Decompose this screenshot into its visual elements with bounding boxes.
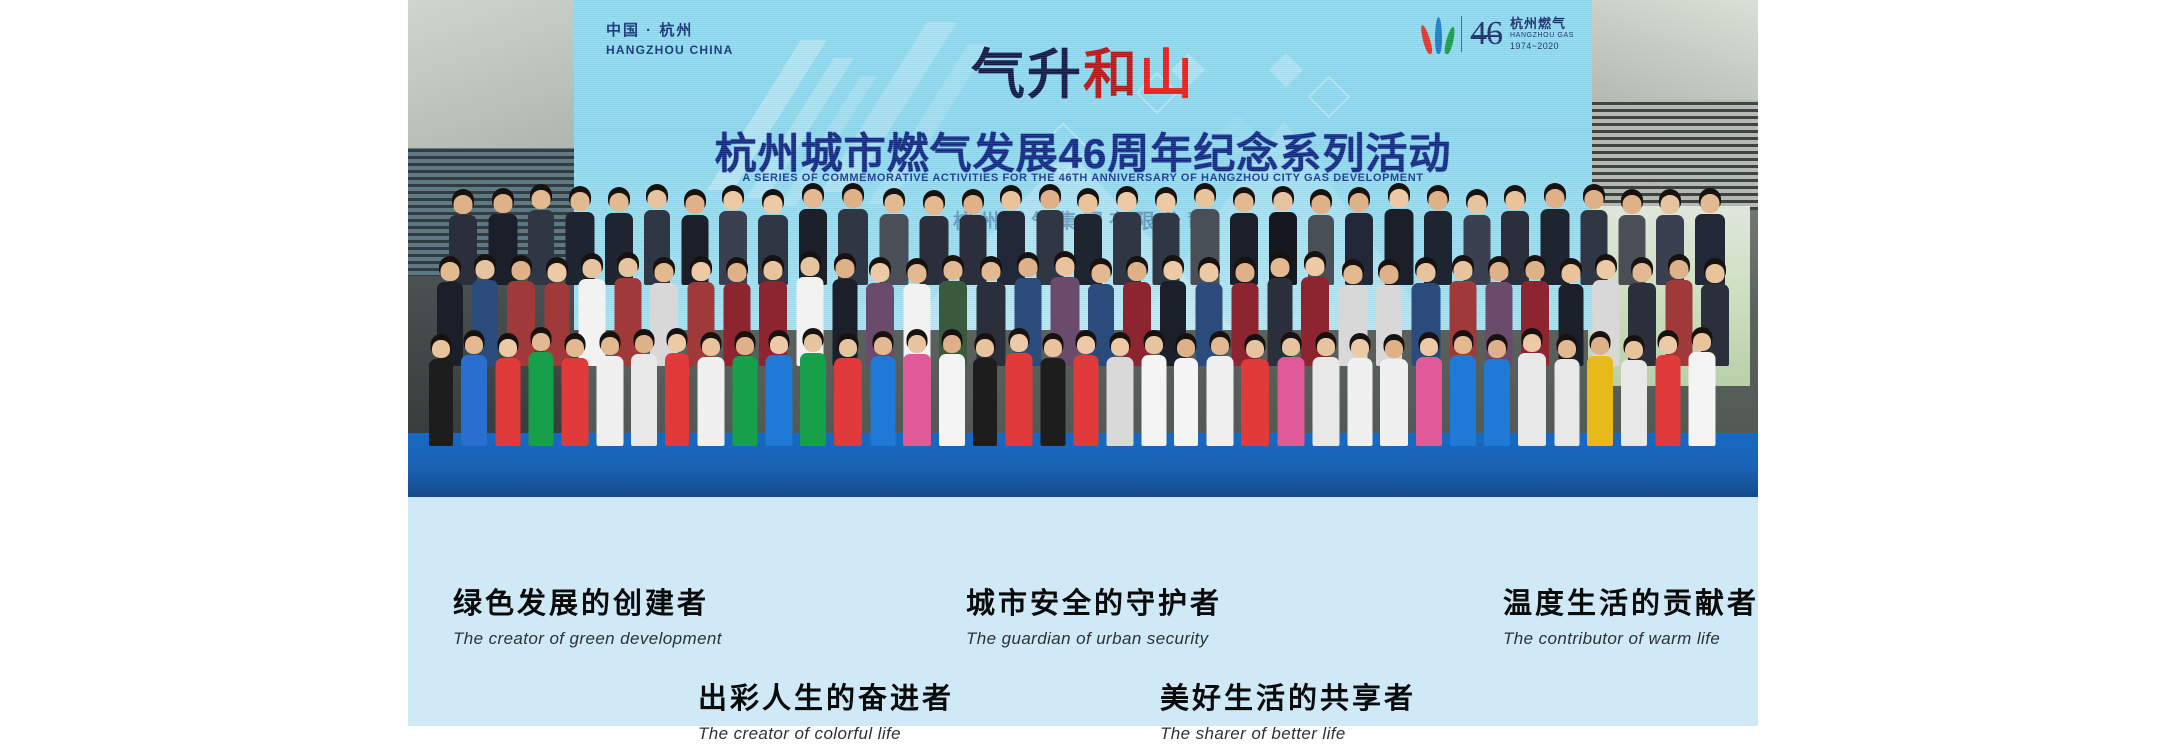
caption-en: The sharer of better life xyxy=(1160,724,1416,744)
person-head xyxy=(839,339,857,357)
brand-lockup: 46 杭州燃气 HANGZHOU GAS 1974~2020 xyxy=(1427,14,1574,54)
person-head xyxy=(432,340,450,358)
person-figure xyxy=(902,332,932,446)
person-head xyxy=(1111,338,1129,356)
person-head xyxy=(1389,189,1408,208)
person-torso xyxy=(561,358,588,446)
person-head xyxy=(1343,265,1362,284)
person-head xyxy=(1661,195,1680,214)
person-head xyxy=(512,261,531,280)
person-torso xyxy=(697,357,724,446)
person-figure xyxy=(494,336,521,446)
person-figure xyxy=(1346,336,1373,446)
person-head xyxy=(1044,339,1062,357)
person-torso xyxy=(939,354,965,446)
person-head xyxy=(1018,258,1037,277)
person-head xyxy=(1701,194,1720,213)
calligraphy-char-1: 气 xyxy=(971,45,1027,105)
person-head xyxy=(1118,192,1137,211)
calligraphy-char-3: 和 xyxy=(1083,45,1139,105)
person-torso xyxy=(596,356,623,446)
person-head xyxy=(493,194,512,213)
person-head xyxy=(800,257,819,276)
person-figure xyxy=(1687,330,1716,446)
caption-cn: 绿色发展的创建者 xyxy=(453,587,722,622)
person-head xyxy=(1429,191,1448,210)
caption-cn: 美好生活的共享者 xyxy=(1160,682,1416,717)
calligraphy-char-4: 山 xyxy=(1139,45,1195,105)
person-head xyxy=(884,194,903,213)
caption-item-5: 美好生活的共享者 The sharer of better life xyxy=(1160,682,1416,744)
person-head xyxy=(570,192,589,211)
person-head xyxy=(702,338,720,356)
person-figure xyxy=(1379,337,1409,446)
person-torso xyxy=(903,354,931,446)
person-head xyxy=(1545,189,1564,208)
person-head xyxy=(1235,263,1254,282)
brand-divider xyxy=(1461,16,1462,52)
person-head xyxy=(1523,334,1541,352)
person-torso xyxy=(1040,358,1065,446)
person-head xyxy=(1128,262,1147,281)
person-head xyxy=(724,191,743,210)
calligraphy-logo: 气升和山 xyxy=(971,48,1195,102)
person-head xyxy=(1584,190,1603,209)
person-figure xyxy=(527,330,554,446)
person-figure xyxy=(1205,334,1234,446)
person-head xyxy=(764,195,783,214)
person-torso xyxy=(1174,358,1198,446)
person-figure xyxy=(764,333,793,446)
person-head xyxy=(1488,340,1506,358)
person-head xyxy=(1420,338,1438,356)
person-figure xyxy=(1311,335,1340,446)
person-head xyxy=(1270,258,1289,277)
caption-cn: 出彩人生的奋进者 xyxy=(698,682,954,717)
person-head xyxy=(1467,195,1486,214)
person-head xyxy=(1489,262,1508,281)
person-torso xyxy=(429,359,453,446)
person-head xyxy=(655,263,674,282)
person-head xyxy=(804,334,822,352)
person-head xyxy=(844,189,863,208)
person-head xyxy=(1669,260,1688,279)
person-head xyxy=(1591,337,1609,355)
person-torso xyxy=(1141,355,1166,446)
person-torso xyxy=(1587,356,1613,446)
poster-content: 中国 · 杭州 HANGZHOU CHINA 46 杭州燃气 HANGZHOU … xyxy=(408,0,1758,726)
person-torso xyxy=(800,353,826,446)
person-figure xyxy=(1072,333,1099,446)
crowd-row-front xyxy=(428,330,1722,446)
person-head xyxy=(1351,339,1369,357)
ceiling-panel xyxy=(408,0,588,150)
person-figure xyxy=(972,336,998,446)
person-head xyxy=(981,262,1000,281)
person-torso xyxy=(1554,359,1579,446)
person-head xyxy=(1706,264,1725,283)
brand-text-block: 杭州燃气 HANGZHOU GAS 1974~2020 xyxy=(1510,17,1574,51)
person-head xyxy=(1282,338,1300,356)
person-head xyxy=(1385,340,1403,358)
person-torso xyxy=(973,358,997,446)
person-figure xyxy=(664,331,690,446)
person-head xyxy=(1622,195,1641,214)
location-en: HANGZHOU CHINA xyxy=(606,43,733,57)
person-figure xyxy=(1483,337,1511,446)
person-head xyxy=(635,335,653,353)
person-torso xyxy=(1450,355,1476,446)
brand-name-cn: 杭州燃气 xyxy=(1510,17,1574,32)
person-head xyxy=(908,335,926,353)
person-figure xyxy=(595,334,624,446)
person-figure xyxy=(1276,335,1305,446)
person-torso xyxy=(665,353,689,446)
person-head xyxy=(1274,192,1293,211)
caption-item-2: 城市安全的守护者 The guardian of urban security xyxy=(966,587,1222,649)
person-figure xyxy=(560,336,589,446)
person-figure xyxy=(1553,337,1580,446)
person-head xyxy=(1416,263,1435,282)
person-figure xyxy=(1240,337,1270,446)
person-head xyxy=(1177,339,1195,357)
caption-item-3: 温度生活的贡献者 The contributor of warm life xyxy=(1503,587,1759,649)
poster-page: 中国 · 杭州 HANGZHOU CHINA 46 杭州燃气 HANGZHOU … xyxy=(0,0,2179,726)
person-head xyxy=(1092,264,1111,283)
person-head xyxy=(532,190,551,209)
person-torso xyxy=(1416,357,1442,446)
caption-cn: 城市安全的守护者 xyxy=(966,587,1222,622)
person-head xyxy=(1010,334,1028,352)
calligraphy-char-2: 升 xyxy=(1027,45,1083,105)
person-head xyxy=(1561,264,1580,283)
person-head xyxy=(1633,263,1652,282)
person-figure xyxy=(1654,333,1681,446)
person-figure xyxy=(1039,336,1066,446)
person-figure xyxy=(1173,336,1199,446)
person-head xyxy=(582,259,601,278)
person-head xyxy=(465,336,483,354)
person-torso xyxy=(870,356,895,446)
person-head xyxy=(441,262,460,281)
person-head xyxy=(736,337,754,355)
person-head xyxy=(1211,337,1229,355)
person-head xyxy=(1306,257,1325,276)
person-torso xyxy=(1206,356,1233,446)
person-head xyxy=(648,190,667,209)
person-torso xyxy=(1688,352,1715,446)
caption-en: The guardian of urban security xyxy=(966,629,1222,649)
person-figure xyxy=(1415,335,1443,446)
person-torso xyxy=(1005,353,1032,446)
person-torso xyxy=(834,358,862,446)
group-photo: 中国 · 杭州 HANGZHOU CHINA 46 杭州燃气 HANGZHOU … xyxy=(408,0,1758,497)
person-head xyxy=(907,264,926,283)
person-figure xyxy=(938,332,966,446)
person-torso xyxy=(1073,355,1098,446)
person-head xyxy=(943,335,961,353)
person-head xyxy=(963,195,982,214)
person-torso xyxy=(732,356,757,446)
person-head xyxy=(1312,195,1331,214)
person-head xyxy=(1659,336,1677,354)
person-figure xyxy=(1004,331,1033,446)
person-head xyxy=(499,339,517,357)
person-figure xyxy=(630,332,658,446)
person-head xyxy=(1317,338,1335,356)
person-head xyxy=(476,260,495,279)
diamond-decor xyxy=(1269,53,1303,87)
anniversary-number: 46 xyxy=(1470,17,1502,51)
person-figure xyxy=(460,333,488,446)
person-torso xyxy=(1347,358,1372,446)
caption-en: The creator of colorful life xyxy=(698,724,954,744)
person-figure xyxy=(799,331,827,446)
person-head xyxy=(1625,341,1643,359)
person-head xyxy=(1350,193,1369,212)
crowd-group xyxy=(408,180,1758,497)
person-head xyxy=(804,189,823,208)
person-head xyxy=(1246,340,1264,358)
caption-item-1: 绿色发展的创建者 The creator of green developmen… xyxy=(453,587,722,649)
person-figure xyxy=(1105,335,1134,446)
person-figure xyxy=(869,334,896,446)
person-figure xyxy=(1140,333,1167,446)
person-figure xyxy=(1517,331,1547,446)
person-torso xyxy=(1518,353,1546,446)
person-torso xyxy=(1106,357,1133,446)
person-torso xyxy=(1312,357,1339,446)
person-head xyxy=(601,337,619,355)
person-head xyxy=(610,193,629,212)
person-head xyxy=(691,262,710,281)
person-torso xyxy=(1380,359,1408,446)
person-torso xyxy=(1655,355,1680,446)
person-head xyxy=(1077,336,1095,354)
caption-en: The creator of green development xyxy=(453,629,722,649)
person-head xyxy=(618,258,637,277)
person-head xyxy=(454,195,473,214)
person-head xyxy=(1693,333,1711,351)
person-head xyxy=(1164,261,1183,280)
person-head xyxy=(532,333,550,351)
person-head xyxy=(1195,189,1214,208)
person-torso xyxy=(1621,360,1647,446)
person-torso xyxy=(1241,359,1269,446)
led-location-block: 中国 · 杭州 HANGZHOU CHINA xyxy=(606,22,733,57)
person-figure xyxy=(1586,334,1614,446)
person-figure xyxy=(833,336,863,446)
person-head xyxy=(1380,265,1399,284)
person-head xyxy=(1235,193,1254,212)
person-head xyxy=(668,334,686,352)
person-head xyxy=(1040,190,1059,209)
person-head xyxy=(727,263,746,282)
brand-name-en: HANGZHOU GAS xyxy=(1510,32,1574,40)
person-head xyxy=(924,196,943,215)
flame-logo-icon xyxy=(1427,14,1453,54)
person-head xyxy=(944,261,963,280)
person-torso xyxy=(461,355,487,446)
person-head xyxy=(770,336,788,354)
person-torso xyxy=(528,352,553,446)
person-torso xyxy=(1484,359,1510,446)
person-head xyxy=(1506,191,1525,210)
caption-panel: 绿色发展的创建者 The creator of green developmen… xyxy=(408,497,1758,726)
person-torso xyxy=(495,358,520,446)
person-head xyxy=(1526,261,1545,280)
person-figure xyxy=(1449,333,1477,446)
person-head xyxy=(871,263,890,282)
person-head xyxy=(1453,261,1472,280)
person-head xyxy=(976,339,994,357)
person-head xyxy=(1055,257,1074,276)
person-torso xyxy=(765,355,792,446)
caption-item-4: 出彩人生的奋进者 The creator of colorful life xyxy=(698,682,954,744)
ceiling-panel-right xyxy=(1578,0,1758,100)
person-figure xyxy=(428,337,454,446)
person-torso xyxy=(631,354,657,446)
brand-years: 1974~2020 xyxy=(1510,41,1574,51)
caption-en: The contributor of warm life xyxy=(1503,629,1759,649)
person-head xyxy=(1454,336,1472,354)
person-head xyxy=(1156,193,1175,212)
person-figure xyxy=(731,334,758,446)
person-head xyxy=(1596,260,1615,279)
person-head xyxy=(685,195,704,214)
person-head xyxy=(874,337,892,355)
person-figure xyxy=(1620,338,1648,446)
person-torso xyxy=(1277,357,1304,446)
person-figure xyxy=(696,335,725,446)
person-head xyxy=(1079,194,1098,213)
person-head xyxy=(1558,340,1576,358)
location-cn: 中国 · 杭州 xyxy=(606,22,733,40)
person-head xyxy=(1199,263,1218,282)
caption-cn: 温度生活的贡献者 xyxy=(1503,587,1759,622)
person-head xyxy=(566,339,584,357)
person-head xyxy=(764,261,783,280)
diamond-outline-decor xyxy=(1308,76,1350,118)
person-head xyxy=(1145,336,1163,354)
person-head xyxy=(1002,191,1021,210)
person-head xyxy=(547,263,566,282)
person-head xyxy=(835,259,854,278)
